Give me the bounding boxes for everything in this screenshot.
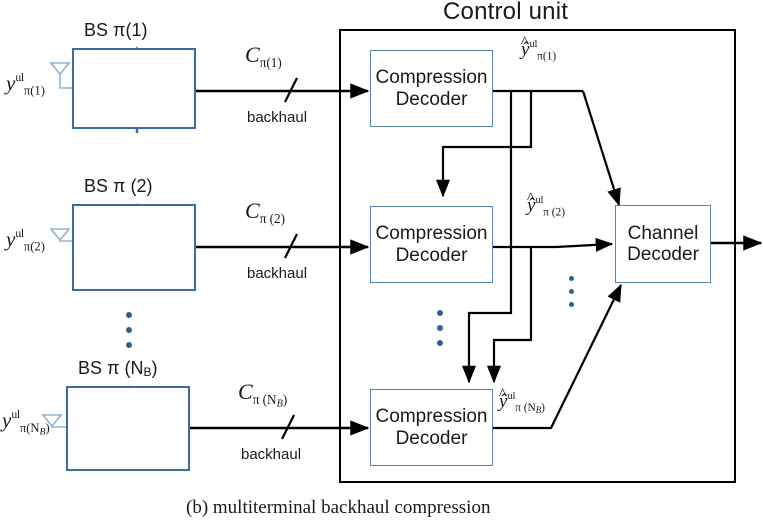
decoder-output-label-2: ^ŷulπ (2)	[527, 196, 565, 219]
channel-decoder[interactable]: Channel Decoder	[615, 205, 711, 283]
channel-decoder-line1: Channel	[628, 223, 699, 244]
decoder-column-ellipsis	[437, 310, 443, 355]
backhaul-text-2: backhaul	[247, 266, 307, 281]
bs-box-1	[72, 48, 196, 129]
input-signal-label-2: yulπ(2)	[6, 228, 45, 253]
figure-caption: (b) multiterminal backhaul compression	[186, 497, 490, 519]
control-unit-title: Control unit	[443, 0, 568, 24]
channel-decoder-input-ellipsis	[569, 276, 574, 315]
figure-canvas: Control unit	[0, 0, 763, 529]
backhaul-text-n: backhaul	[241, 447, 301, 462]
compression-decoder-1[interactable]: Compression Decoder	[370, 50, 493, 127]
channel-decoder-line2: Decoder	[627, 244, 699, 265]
bs-title-n: BS π (NB)	[78, 358, 157, 379]
compression-decoder-n[interactable]: Compression Decoder	[370, 389, 493, 466]
backhaul-capacity-label-2: Cπ (2)	[245, 200, 285, 225]
compression-decoder-n-line2: Decoder	[396, 428, 468, 449]
backhaul-slash-1	[285, 78, 297, 102]
decoder-output-label-1: ^ŷulπ(1)	[521, 40, 556, 63]
compression-decoder-2-line1: Compression	[376, 223, 488, 244]
input-signal-label-n: yulπ(NB)	[2, 409, 50, 437]
backhaul-capacity-label-n: Cπ (NB)	[238, 381, 287, 410]
compression-decoder-1-line1: Compression	[376, 67, 488, 88]
backhaul-slash-n	[282, 415, 294, 439]
bs-column-ellipsis	[126, 312, 132, 357]
backhaul-slash-2	[285, 234, 297, 258]
bs-box-n	[66, 386, 190, 471]
compression-decoder-2-line2: Decoder	[396, 245, 468, 266]
input-signal-label-1: yulπ(1)	[6, 72, 45, 97]
bs-box-2	[72, 204, 196, 291]
compression-decoder-2[interactable]: Compression Decoder	[370, 206, 493, 283]
backhaul-text-1: backhaul	[247, 110, 307, 125]
decoder-output-label-n: ^ŷulπ (NB)	[499, 392, 545, 416]
bs-title-1: BS π(1)	[84, 20, 147, 41]
compression-decoder-n-line1: Compression	[376, 406, 488, 427]
backhaul-capacity-label-1: Cπ(1)	[245, 44, 282, 69]
compression-decoder-1-line2: Decoder	[396, 89, 468, 110]
bs-title-2: BS π (2)	[84, 176, 152, 197]
